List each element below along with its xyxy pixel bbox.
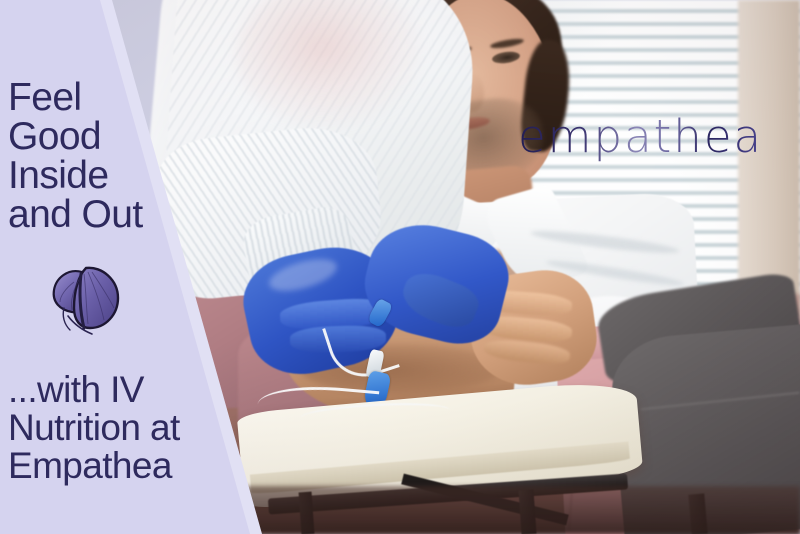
empathea-logo: empathea: [518, 112, 763, 162]
subheadline-text: ...with IV Nutrition at Empathea: [8, 371, 180, 485]
promo-banner: Feel Good Inside and Out: [0, 0, 800, 534]
butterfly-icon: [48, 258, 138, 342]
headline-text: Feel Good Inside and Out: [8, 78, 143, 234]
